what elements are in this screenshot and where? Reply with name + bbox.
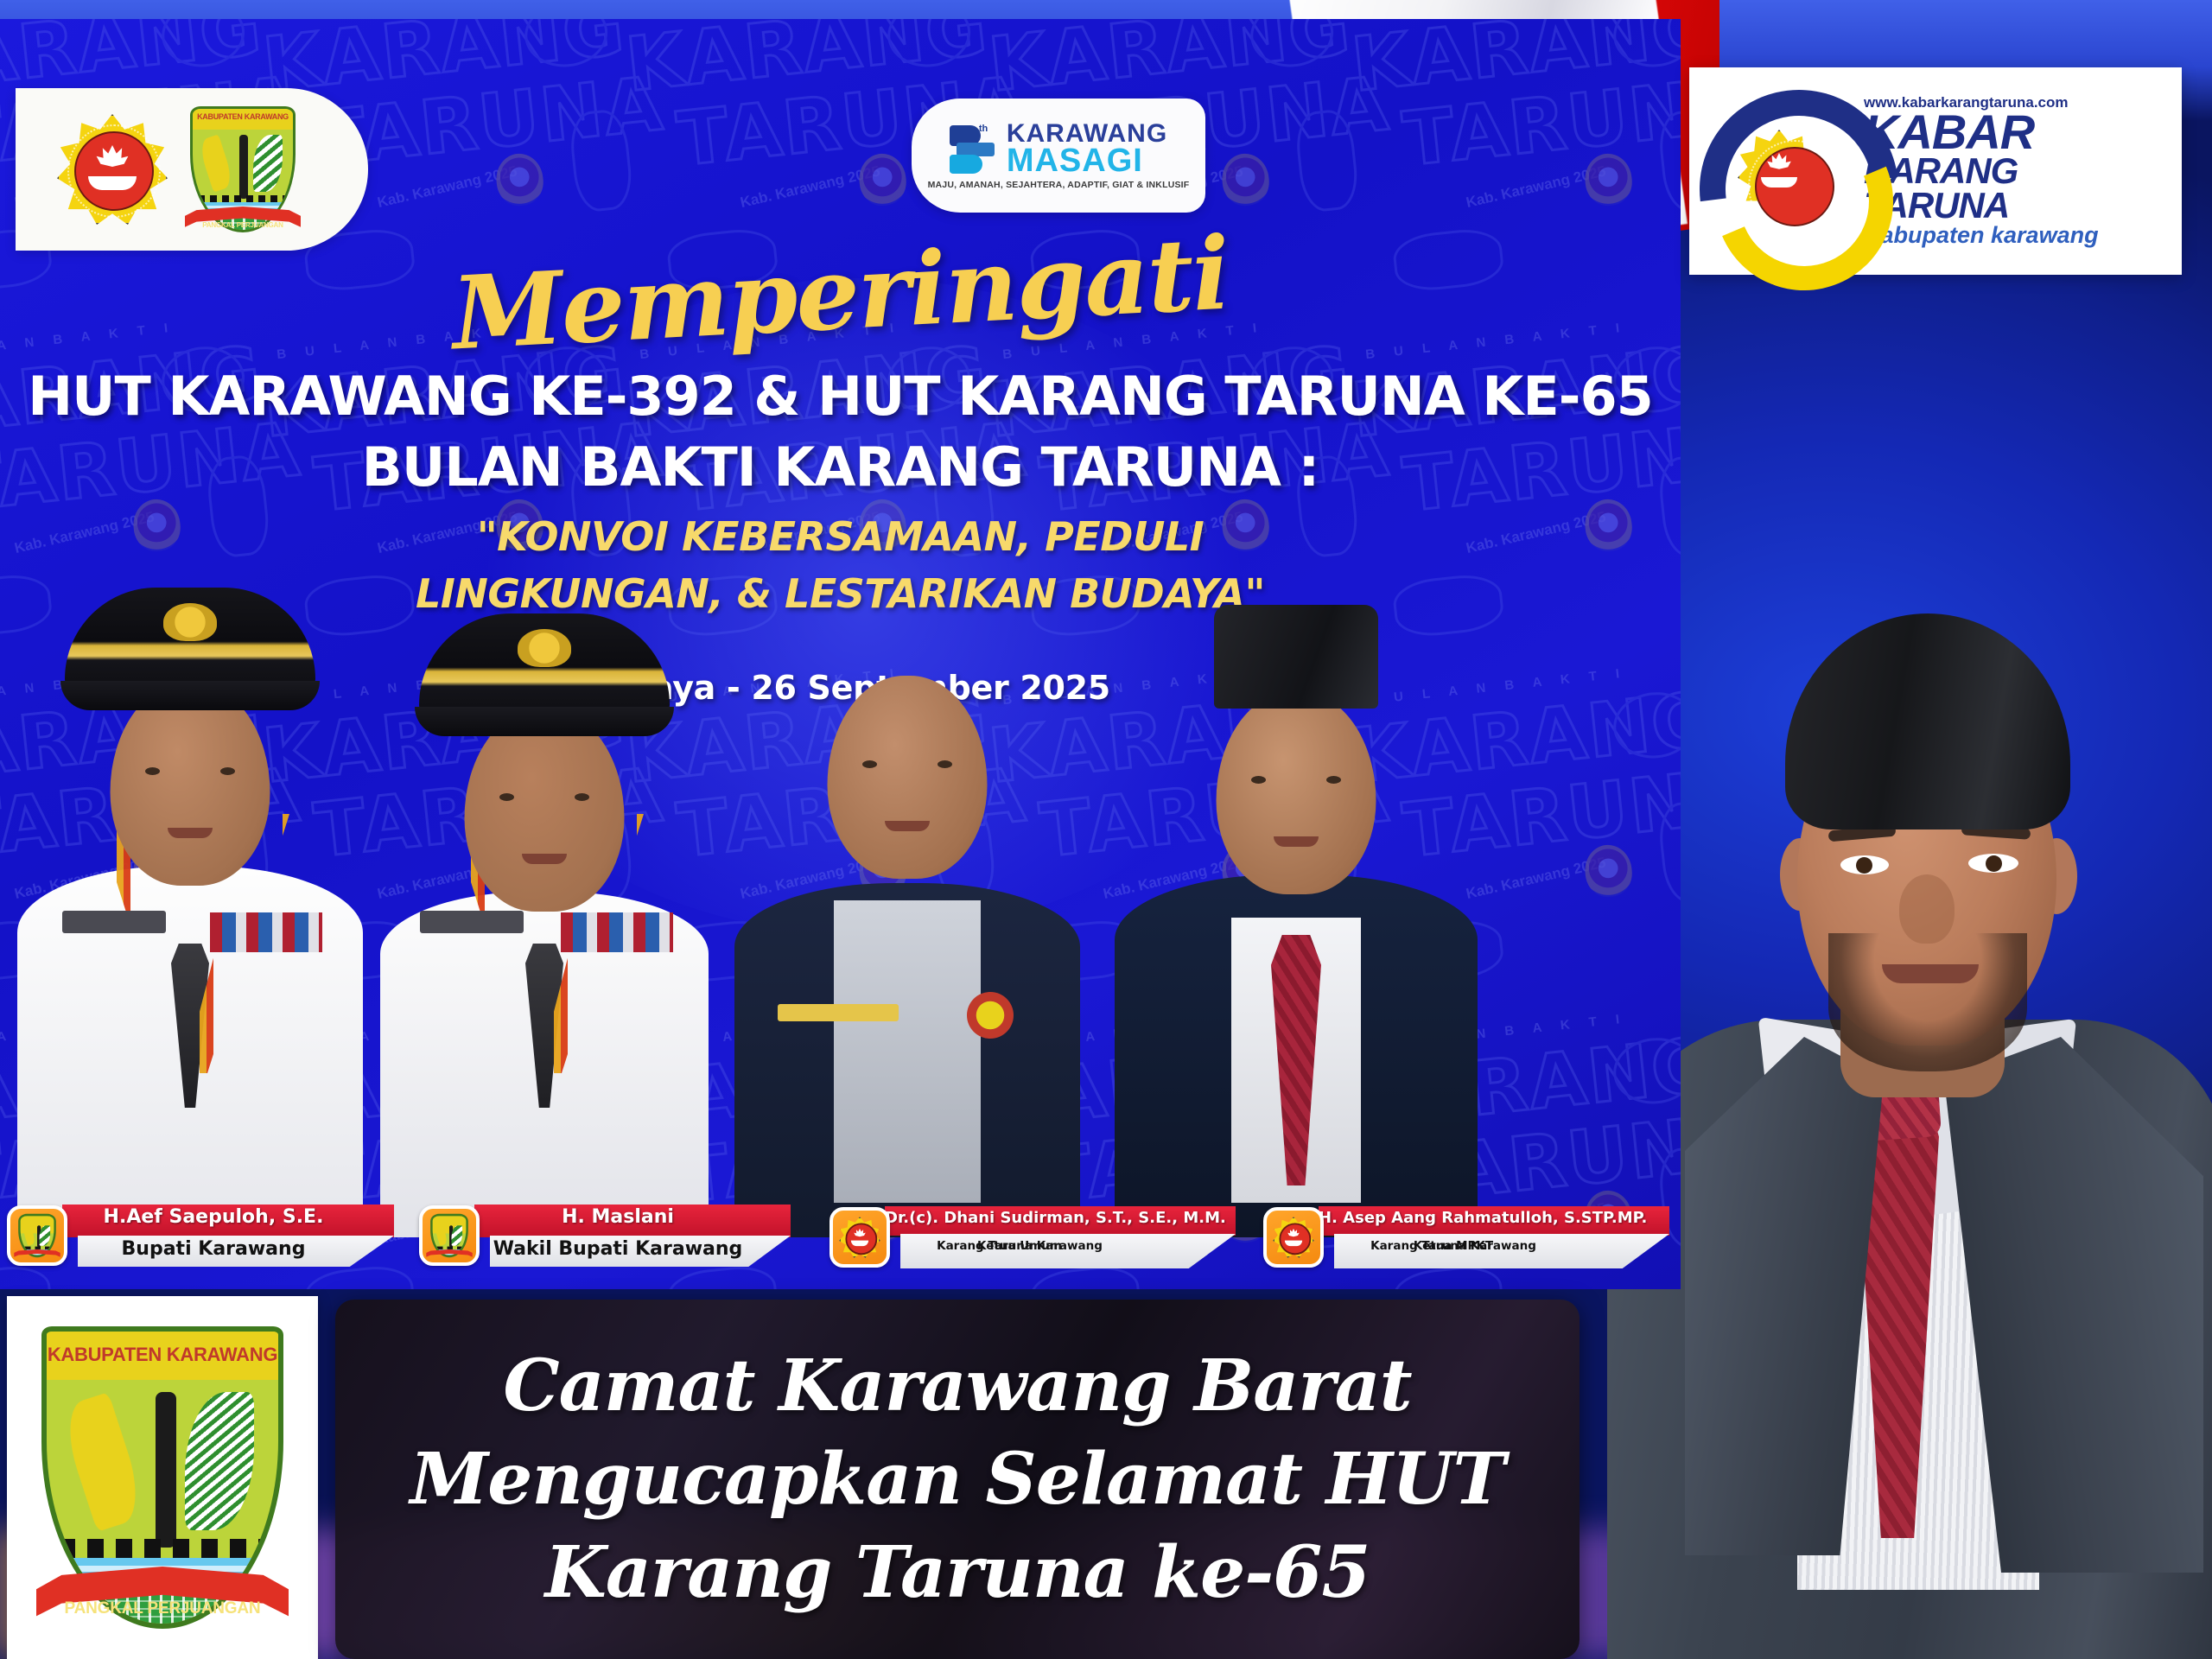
nameplate-subtitle-2: Karang Taruna Karawang [900, 1239, 1139, 1254]
shirt-front [834, 900, 981, 1203]
camat-portrait [1624, 553, 2212, 1659]
masagi-tagline: MAJU, AMANAH, SEJAHTERA, ADAPTIF, GIAT &… [928, 180, 1190, 190]
garuda-emblem-icon [518, 629, 571, 667]
portrait-pupil-left [1856, 857, 1872, 874]
kabupaten-karawang-emblem-icon: KABUPATEN KARAWANG PANGKAL PERJUANGAN [190, 106, 296, 232]
event-poster: B U L A N B A K T IKARANGTARUNAKab. Kara… [0, 19, 1681, 1289]
kabar-swirl-icon [1700, 85, 1855, 257]
songkok-cap-icon [1214, 605, 1378, 709]
poster-headline-line-1: HUT KARAWANG KE-392 & HUT KARANG TARUNA … [0, 365, 1681, 428]
official-face [465, 709, 625, 912]
official-figure [1115, 589, 1478, 1237]
nameplate-badge-0 [7, 1205, 67, 1266]
songkok-cap-icon [1785, 613, 2070, 829]
nameplate-badge-3 [1263, 1207, 1324, 1268]
karang-taruna-emblem-icon [57, 114, 168, 225]
kabar-line-1: KABAR [1864, 110, 2171, 155]
official-figure [17, 581, 363, 1237]
nameplate-official-2: Dr.(c). Dhani Sudirman, S.T., S.E., M.M.… [829, 1205, 1236, 1270]
official-eye-left [862, 760, 877, 768]
nameplate-name-1: H. Maslani [474, 1206, 761, 1228]
masagi-mark-icon: th [950, 124, 1000, 175]
portrait-pupil-right [1986, 855, 2002, 872]
official-mouth [885, 821, 930, 831]
cap-visor [415, 707, 674, 736]
kabar-line-3: Kabupaten karawang [1864, 223, 2171, 249]
name-tag [420, 911, 524, 933]
shield-ribbon-text: PANGKAL PERJUANGAN [190, 221, 296, 229]
kabar-karang-taruna-logo: www.kabarkarangtaruna.com KABAR KARANG T… [1689, 67, 2182, 275]
nameplate-name-0: H.Aef Saepuloh, S.E. [62, 1206, 365, 1228]
karawang-masagi-logo: th KARAWANG MASAGI MAJU, AMANAH, SEJAHTE… [912, 99, 1205, 213]
official-mouth [522, 854, 567, 864]
official-eye-right [938, 760, 952, 768]
caption-line-3: Karang Taruna ke-65 [545, 1529, 1370, 1616]
nameplate-official-0: H.Aef Saepuloh, S.E. Bupati Karawang [7, 1203, 394, 1268]
official-figure [380, 607, 709, 1237]
officials-photo-row [0, 520, 1681, 1237]
medal-ribbons [561, 912, 673, 952]
official-eye-right [220, 767, 235, 775]
official-figure [734, 598, 1080, 1237]
official-eye-right [1326, 776, 1341, 784]
kabupaten-karawang-arms-card: KABUPATEN KARAWANG PANGKAL PERJUANGAN [7, 1296, 318, 1659]
nameplate-official-3: H. Asep Aang Rahmatulloh, S.STP.MP. Ketu… [1263, 1205, 1669, 1270]
official-face [1217, 691, 1376, 894]
nameplate-badge-1 [419, 1205, 480, 1266]
official-mouth [168, 828, 213, 838]
kabar-line-2: KARANG TARUNA [1864, 154, 2171, 223]
nameplate-name-2: Dr.(c). Dhani Sudirman, S.T., S.E., M.M. [885, 1209, 1206, 1227]
official-eye-left [499, 793, 514, 801]
masagi-anniversary-suffix: th [979, 124, 988, 134]
medal-ribbons [210, 912, 322, 952]
official-mouth [1274, 836, 1319, 847]
nameplate-name-3: H. Asep Aang Rahmatulloh, S.STP.MP. [1319, 1209, 1640, 1227]
nameplate-title-1: Wakil Bupati Karawang [490, 1238, 746, 1260]
arms-top-text: KABUPATEN KARAWANG [47, 1344, 278, 1366]
masagi-word-bottom: MASAGI [1007, 145, 1167, 176]
greeting-caption-box: Camat Karawang Barat Mengucapkan Selamat… [335, 1300, 1580, 1659]
official-face [111, 683, 270, 886]
nameplate-official-1: H. Maslani Wakil Bupati Karawang [419, 1203, 791, 1268]
cap-visor [60, 681, 320, 710]
nameplate-title-0: Bupati Karawang [78, 1238, 349, 1260]
name-tag [62, 911, 166, 933]
caption-line-1: Camat Karawang Barat [503, 1343, 1411, 1429]
official-eye-left [1251, 776, 1266, 784]
screenshot-root: B U L A N B A K T IKARANGTARUNAKab. Kara… [0, 0, 2212, 1659]
poster-headline-line-2: BULAN BAKTI KARANG TARUNA : [0, 435, 1681, 499]
arms-ribbon-text: PANGKAL PERJUANGAN [41, 1599, 283, 1618]
official-eye-right [575, 793, 589, 801]
garuda-emblem-icon [163, 603, 217, 641]
jacket-trim [778, 1004, 899, 1021]
shield-top-text: KABUPATEN KARAWANG [193, 112, 293, 121]
org-patch-icon [967, 992, 1014, 1039]
nameplate-subtitle-3: Karang Taruna Karawang [1334, 1239, 1573, 1254]
poster-logo-pill: KABUPATEN KARAWANG PANGKAL PERJUANGAN [16, 88, 368, 251]
official-eye-left [145, 767, 160, 775]
caption-line-2: Mengucapkan Selamat HUT [410, 1436, 1504, 1522]
portrait-beard [1828, 933, 2027, 1071]
nameplate-badge-2 [829, 1207, 890, 1268]
official-face [828, 676, 988, 879]
